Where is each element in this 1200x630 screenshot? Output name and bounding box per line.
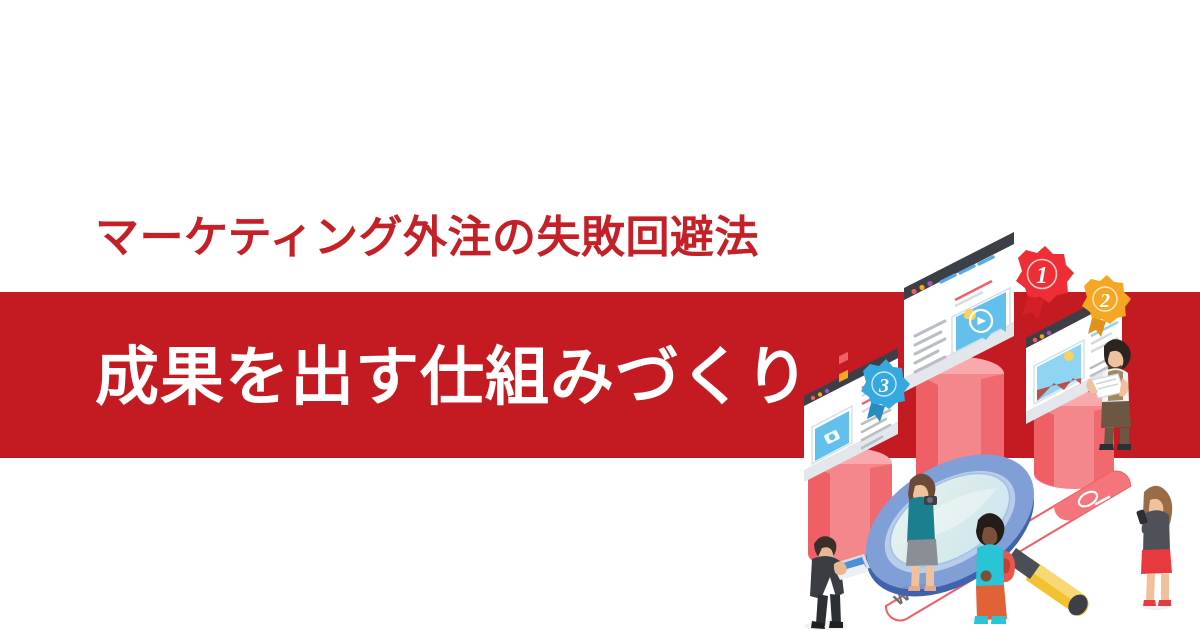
banner-canvas: マーケティング外注の失敗回避法 成果を出す仕組みづくり bbox=[0, 0, 1200, 630]
banner-subtitle: マーケティング外注の失敗回避法 bbox=[95, 212, 759, 265]
seo-ranking-illustration: 1 bbox=[778, 228, 1200, 630]
svg-text:2: 2 bbox=[1099, 290, 1110, 312]
svg-text:1: 1 bbox=[1036, 263, 1048, 289]
rank-badge-1: 1 bbox=[1016, 246, 1074, 320]
banner-title: 成果を出す仕組みづくり bbox=[95, 337, 810, 417]
person-woman-with-phone bbox=[1136, 486, 1172, 610]
svg-text:3: 3 bbox=[878, 375, 889, 397]
